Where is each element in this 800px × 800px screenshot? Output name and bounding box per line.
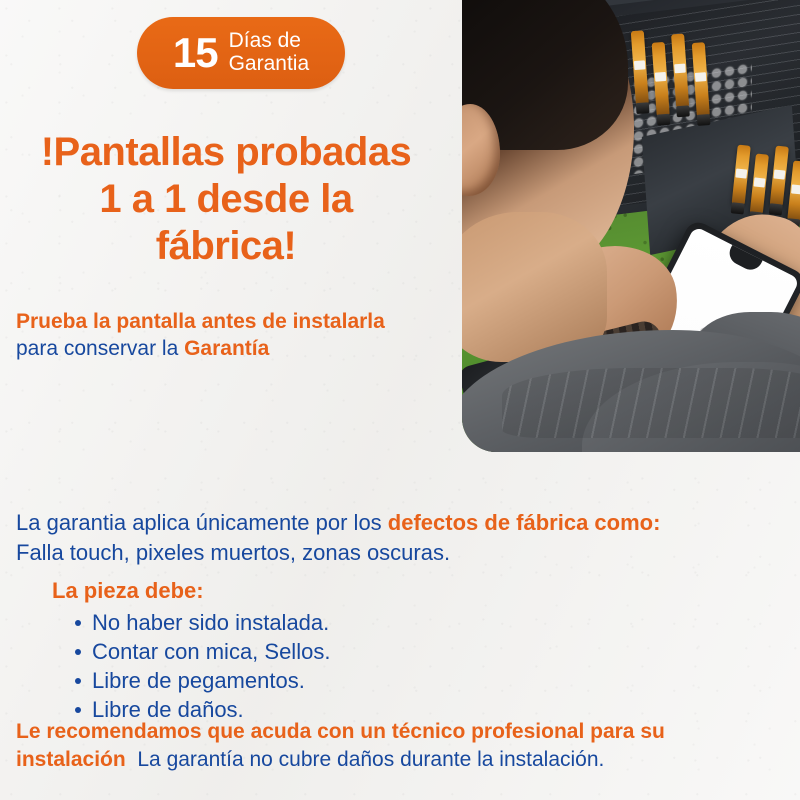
badge-line-2: Garantia bbox=[229, 53, 310, 76]
list-item: No haber sido instalada. bbox=[74, 608, 472, 637]
subheadline: Prueba la pantalla antes de instalarla p… bbox=[16, 308, 456, 363]
requirements-list: No haber sido instalada. Contar con mica… bbox=[52, 608, 472, 724]
requirements-title: La pieza debe: bbox=[52, 578, 472, 604]
sleeve-folds bbox=[502, 368, 800, 438]
notice-strong: defectos de fábrica como: bbox=[388, 510, 661, 535]
headline-line-3: fábrica! bbox=[0, 223, 452, 270]
headline-line-1: !Pantallas probadas bbox=[0, 129, 452, 176]
list-item: Contar con mica, Sellos. bbox=[74, 637, 472, 666]
subheadline-line-2: para conservar la Garantía bbox=[16, 335, 456, 362]
notice-plain-start: La garantia aplica únicamente por los bbox=[16, 510, 388, 535]
flex-cable-bundle-right bbox=[734, 148, 800, 218]
badge-line-1: Días de bbox=[229, 30, 310, 53]
headline: !Pantallas probadas 1 a 1 desde la fábri… bbox=[0, 129, 452, 271]
headline-line-2: 1 a 1 desde la bbox=[0, 176, 452, 223]
subheadline-warranty-word: Garantía bbox=[184, 337, 269, 360]
warranty-days-badge: 15 Días de Garantia bbox=[137, 17, 345, 89]
warranty-scope-notice: La garantia aplica únicamente por los de… bbox=[16, 508, 786, 569]
subheadline-line-1: Prueba la pantalla antes de instalarla bbox=[16, 308, 456, 335]
badge-text: Días de Garantia bbox=[229, 30, 310, 75]
installation-recommendation: Le recomendamos que acuda con un técnico… bbox=[16, 718, 788, 775]
subheadline-line-2-plain: para conservar la bbox=[16, 337, 184, 360]
notice-line-2: Falla touch, pixeles muertos, zonas oscu… bbox=[16, 540, 450, 565]
badge-number: 15 bbox=[173, 32, 218, 74]
requirements-block: La pieza debe: No haber sido instalada. … bbox=[52, 578, 472, 724]
footer-plain: La garantía no cubre daños durante la in… bbox=[137, 748, 604, 771]
technician-testing-screen-photo bbox=[462, 0, 800, 452]
warranty-poster: 15 Días de Garantia !Pantallas probadas … bbox=[0, 0, 800, 800]
list-item: Libre de pegamentos. bbox=[74, 666, 472, 695]
